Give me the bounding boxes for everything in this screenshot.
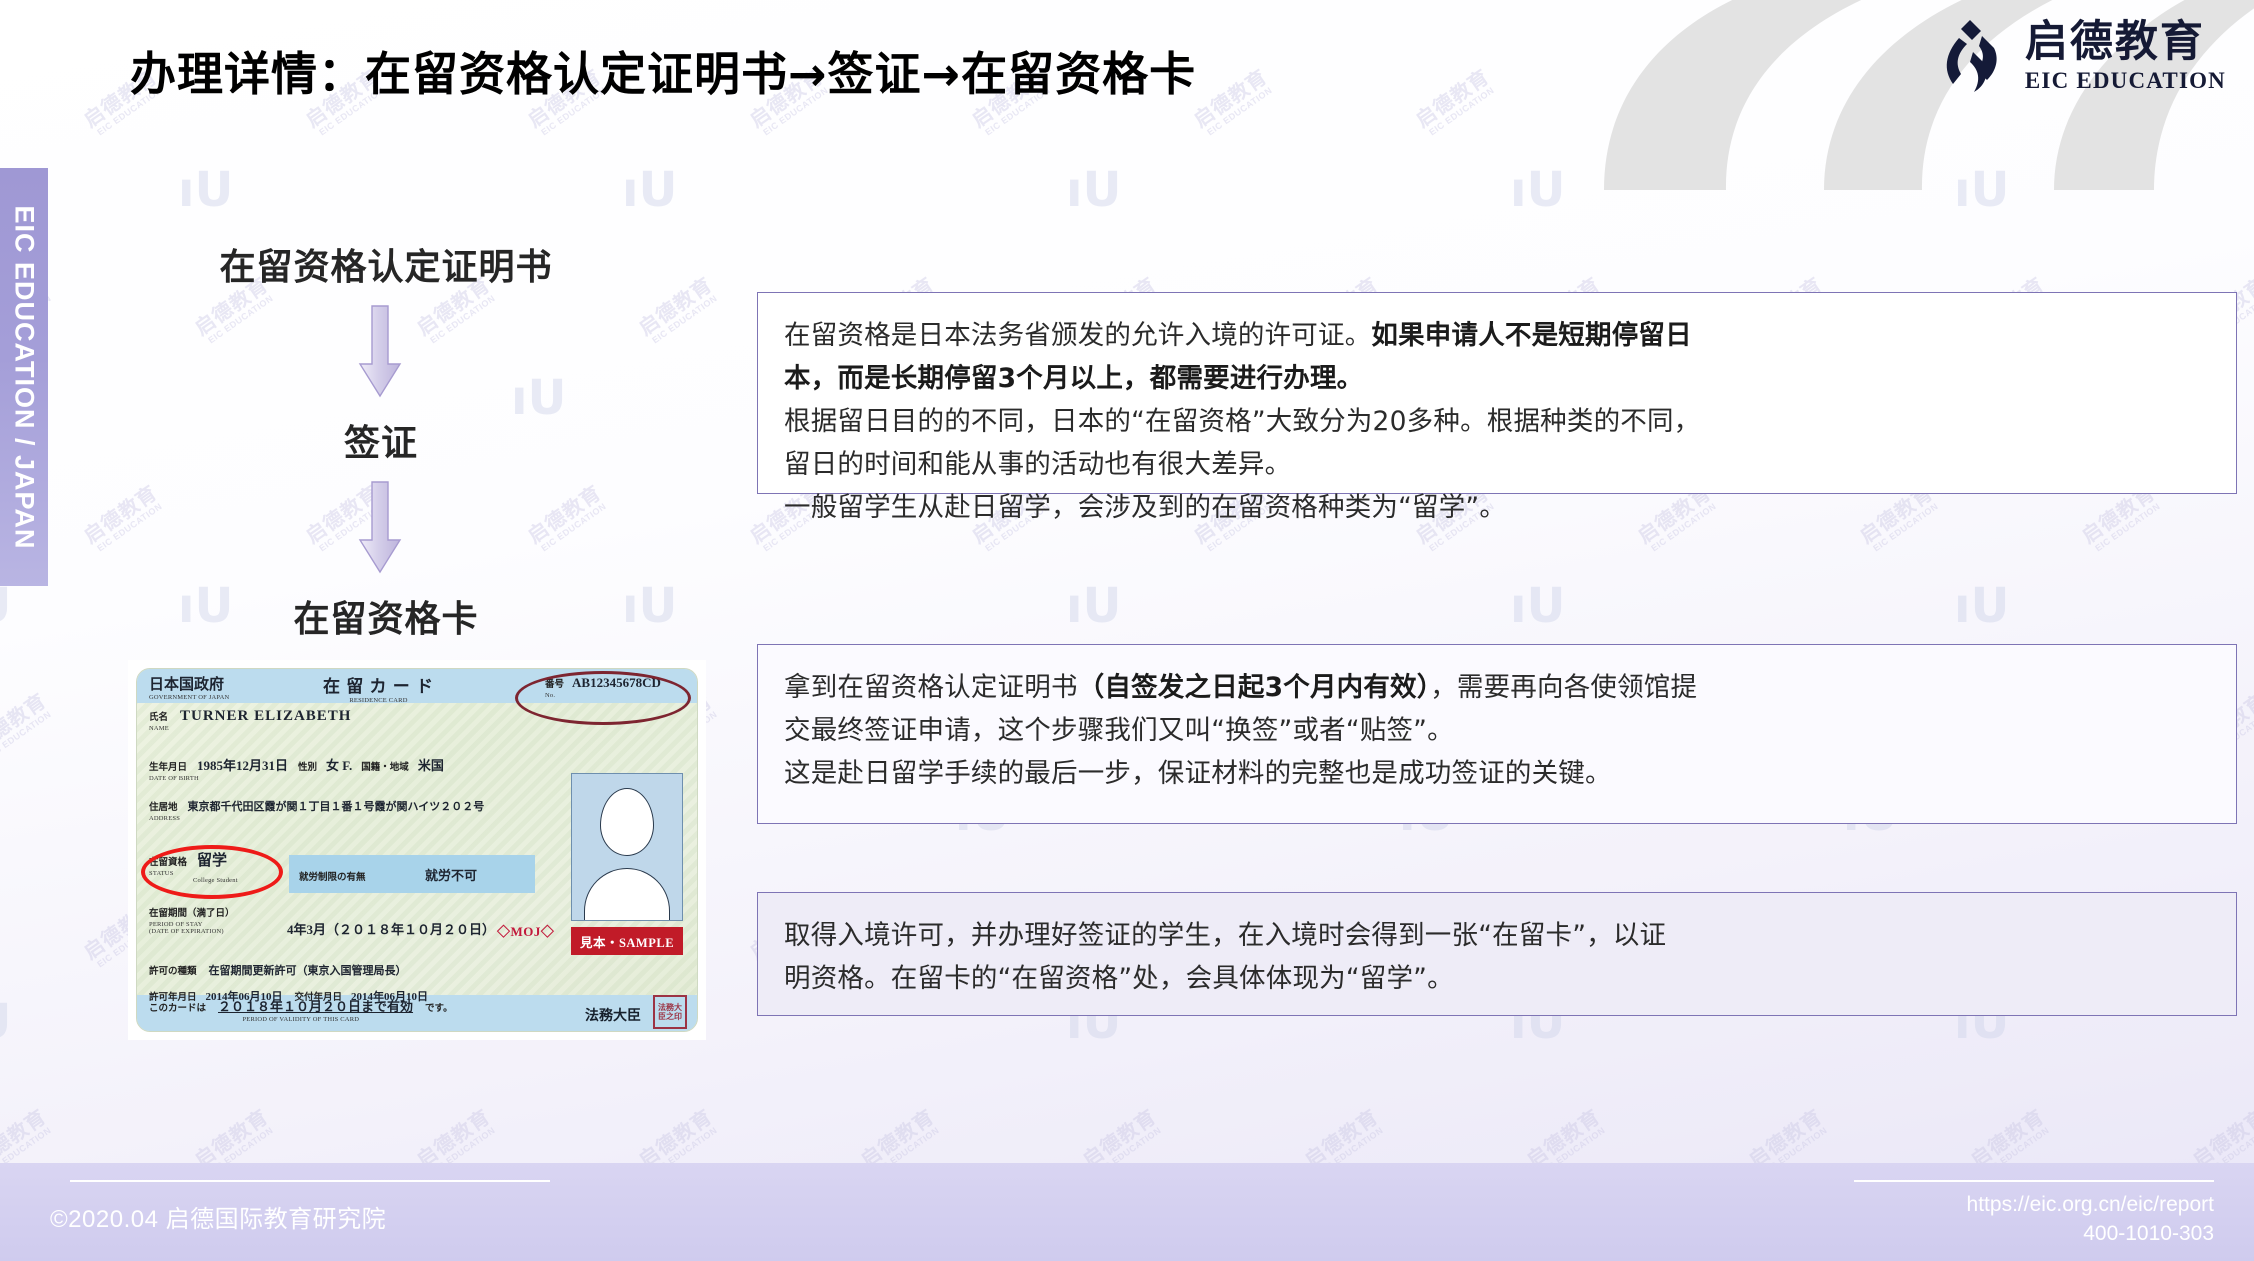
card-period-of-stay: 在留期間（満了日） PERIOD OF STAY (DATE OF EXPIRA…	[149, 903, 235, 935]
body-text: 这是赴日留学手续的最后一步，保证材料的完整也是成功签证的关键。	[784, 758, 1612, 789]
info-line: 根据留日目的的不同，日本的“在留资格”大致分为20多种。根据种类的不同，	[784, 401, 2210, 444]
card-period-of-stay-value: 4年3月（２０１８年１０月２０日）	[287, 919, 495, 938]
watermark-mark-icon: ıU	[0, 578, 11, 634]
body-text: 留日的时间和能从事的活动也有很大差异。	[784, 449, 1291, 480]
info-line: 一般留学生从赴日留学，会涉及到的在留资格种类为“留学”。	[784, 487, 2210, 530]
watermark-mark-icon: ıU	[1954, 578, 2009, 634]
watermark-mark-icon: ıU	[1510, 578, 1565, 634]
side-tab-label: EIC EDUCATION / JAPAN	[9, 205, 40, 549]
body-text: ，需要再向各使领馆提	[1430, 672, 1697, 703]
info-line: 交最终签证申请，这个步骤我们又叫“换签”或者“贴签”。	[784, 710, 2210, 753]
watermark-mark-icon: ıU	[178, 0, 233, 10]
card-work-permission-band: 就労制限の有無 就労不可	[289, 855, 535, 893]
body-text: 明资格。在留卡的“在留资格”处，会具体体现为“留学”。	[784, 963, 1454, 994]
card-name: 氏名 TURNER ELIZABETH NAME	[149, 707, 351, 732]
emphasis-text: 本，而是长期停留3个月以上，都需要进行办理。	[784, 363, 1363, 394]
card-government: 日本国政府 GOVERNMENT OF JAPAN	[149, 673, 229, 701]
photo-head-shape	[600, 788, 654, 856]
highlight-circle-card-number	[515, 671, 691, 725]
card-title: 在 留 カ ー ド RESIDENCE CARD	[323, 672, 434, 704]
watermark-mark-icon: ıU	[1066, 162, 1121, 218]
info-box-residence-status: 在留资格是日本法务省颁发的允许入境的许可证。如果申请人不是短期停留日本，而是长期…	[757, 292, 2237, 494]
down-arrow-icon-2	[357, 480, 403, 576]
highlight-circle-status	[141, 845, 283, 899]
watermark-mark-icon: ıU	[622, 578, 677, 634]
info-line: 取得入境许可，并办理好签证的学生，在入境时会得到一张“在留卡”，以证	[784, 915, 2210, 958]
watermark-mark-icon: ıU	[622, 162, 677, 218]
eic-logo-mark-icon	[1937, 18, 2011, 94]
info-box-visa-application: 拿到在留资格认定证明书（自签发之日起3个月内有效），需要再向各使领馆提交最终签证…	[757, 644, 2237, 824]
emphasis-text: （自签发之日起3个月内有效）	[1078, 672, 1431, 703]
card-permit-type: 許可の種類 在留期間更新許可（東京入国管理局長）	[149, 961, 407, 979]
body-text: 一般留学生从赴日留学，会涉及到的在留资格种类为“留学”。	[784, 492, 1506, 523]
card-moj-mark: ◇MOJ◇	[497, 921, 554, 940]
info-box-residence-card: 取得入境许可，并办理好签证的学生，在入境时会得到一张“在留卡”，以证明资格。在留…	[757, 892, 2237, 1016]
info-line: 拿到在留资格认定证明书（自签发之日起3个月内有效），需要再向各使领馆提	[784, 667, 2210, 710]
watermark-text: 启德教育EIC EDUCATION	[0, 691, 56, 764]
page-title: 办理详情：在留资格认定证明书→签证→在留资格卡	[130, 38, 1196, 104]
info-line: 本，而是长期停留3个月以上，都需要进行办理。	[784, 358, 2210, 401]
card-validity: このカードは ２０１８年１０月２０日まで有効 です。 PERIOD OF VAL…	[149, 996, 453, 1023]
watermark-mark-icon: ıU	[1066, 0, 1121, 10]
watermark-text: 启德教育EIC EDUCATION	[1191, 67, 1277, 140]
card-official-seal-icon: 法務大臣之印	[653, 995, 687, 1029]
footer-url[interactable]: https://eic.org.cn/eic/report	[1967, 1191, 2214, 1220]
flow-step-visa: 签证	[132, 414, 630, 466]
card-birth-sex-nationality: 生年月日 1985年12月31日 性別 女 F. 国籍・地域 米国 DATE O…	[149, 755, 444, 782]
page-footer: ©2020.04 启德国际教育研究院 https://eic.org.cn/ei…	[0, 1163, 2254, 1261]
info-line: 明资格。在留卡的“在留资格”处，会具体体现为“留学”。	[784, 958, 2210, 1001]
body-text: 拿到在留资格认定证明书	[784, 672, 1078, 703]
side-tab-eic-education-japan: EIC EDUCATION / JAPAN	[0, 168, 48, 586]
emphasis-text: 如果申请人不是短期停留日	[1371, 320, 1691, 351]
card-address: 住居地 東京都千代田区霞が関１丁目１番１号霞が関ハイツ２０２号 ADDRESS	[149, 797, 484, 822]
body-text: 根据留日目的的不同，日本的“在留资格”大致分为20多种。根据种类的不同，	[784, 406, 1700, 437]
watermark-mark-icon: ıU	[178, 162, 233, 218]
footer-rule-right	[1854, 1180, 2214, 1182]
footer-rule-left	[70, 1180, 550, 1182]
residence-card-image: 日本国政府 GOVERNMENT OF JAPAN 在 留 カ ー ド RESI…	[128, 660, 706, 1040]
flow-step-residence-card: 在留资格卡	[142, 590, 630, 642]
residence-card: 日本国政府 GOVERNMENT OF JAPAN 在 留 カ ー ド RESI…	[136, 668, 698, 1032]
card-photo-placeholder	[571, 773, 683, 921]
info-line: 这是赴日留学手续的最后一步，保证材料的完整也是成功签证的关键。	[784, 753, 2210, 796]
brand-logo: 启德教育 EIC EDUCATION	[1937, 18, 2226, 94]
watermark-mark-icon: ıU	[0, 994, 11, 1050]
footer-phone: 400-1010-303	[1967, 1220, 2214, 1249]
card-minister-label: 法務大臣	[585, 1005, 641, 1025]
flow-step-certificate: 在留资格认定证明书	[142, 238, 630, 290]
card-sample-stamp: 見本・SAMPLE	[571, 927, 683, 955]
body-text: 交最终签证申请，这个步骤我们又叫“换签”或者“贴签”。	[784, 715, 1454, 746]
watermark-mark-icon: ıU	[622, 0, 677, 10]
process-flow-diagram: 在留资格认定证明书 签证 在留资格卡	[130, 238, 630, 642]
footer-contact: https://eic.org.cn/eic/report 400-1010-3…	[1967, 1191, 2214, 1249]
logo-text-en: EIC EDUCATION	[2025, 69, 2226, 92]
watermark-text: 启德教育EIC EDUCATION	[636, 275, 722, 348]
photo-body-shape	[584, 868, 670, 920]
logo-text-cn: 启德教育	[2025, 21, 2226, 64]
watermark-mark-icon: ıU	[1066, 578, 1121, 634]
down-arrow-icon	[357, 304, 403, 400]
info-line: 留日的时间和能从事的活动也有很大差异。	[784, 444, 2210, 487]
body-text: 在留资格是日本法务省颁发的允许入境的许可证。	[784, 320, 1371, 351]
footer-copyright: ©2020.04 启德国际教育研究院	[50, 1199, 386, 1234]
info-line: 在留资格是日本法务省颁发的允许入境的许可证。如果申请人不是短期停留日	[784, 315, 2210, 358]
watermark-mark-icon: ıU	[0, 0, 11, 10]
body-text: 取得入境许可，并办理好签证的学生，在入境时会得到一张“在留卡”，以证	[784, 920, 1666, 951]
